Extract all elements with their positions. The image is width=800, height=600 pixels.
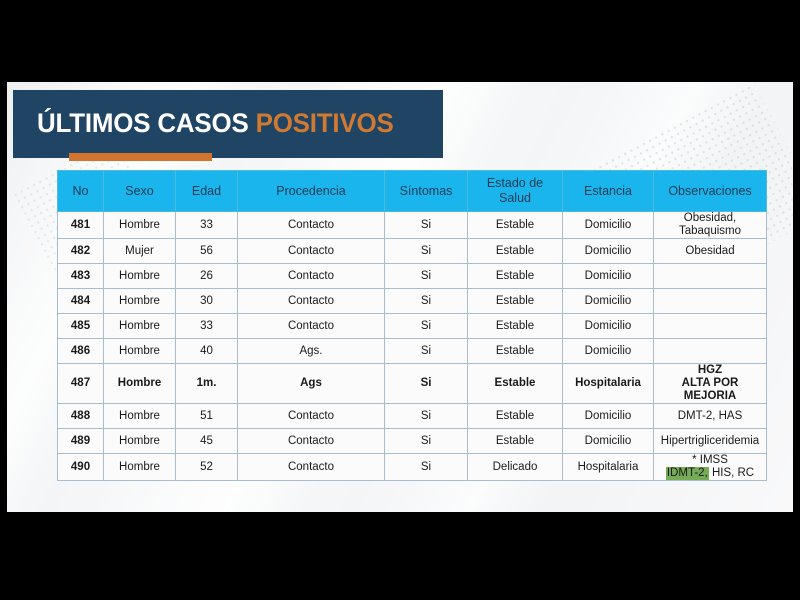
cell-estancia: Domicilio: [563, 314, 654, 339]
cell-sintomas: Si: [385, 404, 468, 429]
cell-sexo: Hombre: [104, 264, 176, 289]
cell-sintomas: Si: [385, 289, 468, 314]
table-row[interactable]: 488Hombre51ContactoSiEstableDomicilioDMT…: [58, 404, 767, 429]
column-header-sexo[interactable]: Sexo: [104, 171, 176, 212]
cell-estancia: Domicilio: [563, 404, 654, 429]
observacion-line: Hipertrigliceridemia: [656, 435, 764, 448]
cell-estancia: Domicilio: [563, 429, 654, 454]
cell-sintomas: Si: [385, 239, 468, 264]
cell-sexo: Mujer: [104, 239, 176, 264]
cell-observaciones: Obesidad: [654, 239, 767, 264]
cell-observaciones: Obesidad, Tabaquismo: [654, 212, 767, 239]
cell-estancia: Hospitalaria: [563, 364, 654, 404]
cell-estado-salud: Estable: [468, 339, 563, 364]
cell-estancia: Domicilio: [563, 289, 654, 314]
cell-observaciones: * IMSSIDMT-2, HIS, RC: [654, 454, 767, 481]
cell-observaciones: [654, 339, 767, 364]
table-row[interactable]: 481Hombre33ContactoSiEstableDomicilioObe…: [58, 212, 767, 239]
page-title: ÚLTIMOS CASOS POSITIVOS: [37, 107, 394, 139]
green-highlight-mark: IDMT-2,: [666, 467, 709, 480]
cell-sexo: Hombre: [104, 429, 176, 454]
cell-procedencia: Contacto: [238, 454, 385, 481]
column-header-edad[interactable]: Edad: [176, 171, 238, 212]
page-title-accent: POSITIVOS: [256, 108, 394, 138]
title-accent-bar: [69, 153, 212, 161]
cell-procedencia: Ags.: [238, 339, 385, 364]
column-header-estancia[interactable]: Estancia: [563, 171, 654, 212]
cell-sexo: Hombre: [104, 289, 176, 314]
cell-edad: 40: [176, 339, 238, 364]
cell-edad: 33: [176, 212, 238, 239]
cell-estancia: Domicilio: [563, 339, 654, 364]
cell-sexo: Hombre: [104, 364, 176, 404]
cell-edad: 56: [176, 239, 238, 264]
cell-estado-salud: Estable: [468, 289, 563, 314]
cell-sintomas: Si: [385, 429, 468, 454]
cell-estado-salud: Estable: [468, 314, 563, 339]
cell-edad: 1m.: [176, 364, 238, 404]
cell-edad: 26: [176, 264, 238, 289]
cell-observaciones: Hipertrigliceridemia: [654, 429, 767, 454]
cell-estado-salud: Estable: [468, 239, 563, 264]
column-header-sintomas[interactable]: Síntomas: [385, 171, 468, 212]
case-number: 487: [58, 364, 104, 404]
presentation-slide: ÚLTIMOS CASOS POSITIVOS No Sexo Edad Pro…: [7, 82, 793, 512]
table-row[interactable]: 485Hombre33ContactoSiEstableDomicilio: [58, 314, 767, 339]
cell-estado-salud: Estable: [468, 212, 563, 239]
cell-estado-salud: Estable: [468, 264, 563, 289]
table-header-row: No Sexo Edad Procedencia Síntomas Estado…: [58, 171, 767, 212]
table-body: 481Hombre33ContactoSiEstableDomicilioObe…: [58, 212, 767, 481]
observacion-line: DMT-2, HAS: [656, 410, 764, 423]
case-number: 483: [58, 264, 104, 289]
observacion-line: * IMSS: [656, 454, 764, 467]
cell-edad: 45: [176, 429, 238, 454]
cell-edad: 51: [176, 404, 238, 429]
title-banner: ÚLTIMOS CASOS POSITIVOS: [13, 90, 443, 158]
cases-table-container: No Sexo Edad Procedencia Síntomas Estado…: [57, 170, 767, 481]
cell-observaciones: [654, 314, 767, 339]
cell-sintomas: Si: [385, 454, 468, 481]
observacion-line: ALTA POR MEJORIA: [656, 377, 764, 403]
cell-observaciones: [654, 264, 767, 289]
observacion-line: Obesidad: [656, 245, 764, 258]
table-row[interactable]: 487Hombre1m.AgsSiEstableHospitalariaHGZA…: [58, 364, 767, 404]
cell-sexo: Hombre: [104, 314, 176, 339]
cell-sintomas: Si: [385, 264, 468, 289]
cell-sintomas: Si: [385, 339, 468, 364]
table-row[interactable]: 490Hombre52ContactoSiDelicadoHospitalari…: [58, 454, 767, 481]
table-row[interactable]: 484Hombre30ContactoSiEstableDomicilio: [58, 289, 767, 314]
table-row[interactable]: 483Hombre26ContactoSiEstableDomicilio: [58, 264, 767, 289]
cell-edad: 52: [176, 454, 238, 481]
cell-estado-salud: Estable: [468, 429, 563, 454]
letterbox-stage: ÚLTIMOS CASOS POSITIVOS No Sexo Edad Pro…: [0, 0, 800, 600]
cell-estancia: Domicilio: [563, 264, 654, 289]
table-row[interactable]: 482Mujer56ContactoSiEstableDomicilioObes…: [58, 239, 767, 264]
column-header-procedencia[interactable]: Procedencia: [238, 171, 385, 212]
case-number: 482: [58, 239, 104, 264]
case-number: 490: [58, 454, 104, 481]
cell-procedencia: Contacto: [238, 404, 385, 429]
cell-procedencia: Contacto: [238, 264, 385, 289]
case-number: 485: [58, 314, 104, 339]
case-number: 489: [58, 429, 104, 454]
cell-sexo: Hombre: [104, 454, 176, 481]
cell-estado-salud: Delicado: [468, 454, 563, 481]
cell-observaciones: [654, 289, 767, 314]
cell-sintomas: Si: [385, 314, 468, 339]
column-header-observaciones[interactable]: Observaciones: [654, 171, 767, 212]
observacion-line: HGZ: [656, 364, 764, 377]
table-header: No Sexo Edad Procedencia Síntomas Estado…: [58, 171, 767, 212]
cell-sexo: Hombre: [104, 404, 176, 429]
cell-procedencia: Contacto: [238, 212, 385, 239]
cell-procedencia: Ags: [238, 364, 385, 404]
cell-estado-salud: Estable: [468, 364, 563, 404]
observacion-line: Obesidad, Tabaquismo: [656, 212, 764, 238]
case-number: 484: [58, 289, 104, 314]
cases-table: No Sexo Edad Procedencia Síntomas Estado…: [57, 170, 767, 481]
cell-procedencia: Contacto: [238, 289, 385, 314]
cell-procedencia: Contacto: [238, 429, 385, 454]
observacion-line: IDMT-2, HIS, RC: [656, 467, 764, 480]
table-row[interactable]: 486Hombre40Ags.SiEstableDomicilio: [58, 339, 767, 364]
cell-estado-salud: Estable: [468, 404, 563, 429]
column-header-estado-salud[interactable]: Estado de Salud: [468, 171, 563, 212]
cell-observaciones: HGZALTA POR MEJORIA: [654, 364, 767, 404]
case-number: 481: [58, 212, 104, 239]
table-row[interactable]: 489Hombre45ContactoSiEstableDomicilioHip…: [58, 429, 767, 454]
cell-sintomas: Si: [385, 364, 468, 404]
cell-estancia: Domicilio: [563, 239, 654, 264]
cell-estancia: Domicilio: [563, 212, 654, 239]
column-header-no[interactable]: No: [58, 171, 104, 212]
cell-sintomas: Si: [385, 212, 468, 239]
page-title-main: ÚLTIMOS CASOS: [37, 108, 256, 138]
cell-sexo: Hombre: [104, 339, 176, 364]
cell-observaciones: DMT-2, HAS: [654, 404, 767, 429]
cell-sexo: Hombre: [104, 212, 176, 239]
cell-procedencia: Contacto: [238, 239, 385, 264]
case-number: 488: [58, 404, 104, 429]
case-number: 486: [58, 339, 104, 364]
cell-edad: 30: [176, 289, 238, 314]
cell-edad: 33: [176, 314, 238, 339]
cell-estancia: Hospitalaria: [563, 454, 654, 481]
cell-procedencia: Contacto: [238, 314, 385, 339]
